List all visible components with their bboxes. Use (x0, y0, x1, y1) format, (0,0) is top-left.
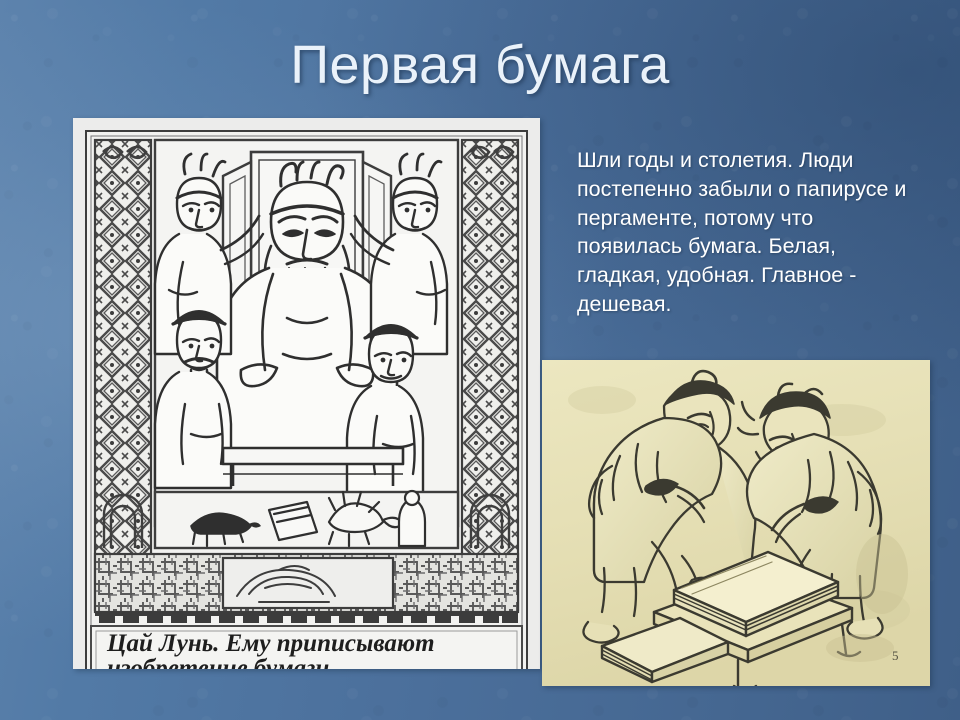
body-text-line: Шли годы и столетия. Люди (577, 146, 929, 175)
woodcut-illustration: Старинная китайская гравюра: Цай Лунь в … (73, 118, 540, 669)
papermakers-artwork: 5 (542, 360, 930, 686)
woodcut-caption-line-1: Цай Лунь. Ему приписывают (106, 630, 435, 657)
slide: Первая бумага Старинная китайская гравюр… (0, 0, 960, 720)
body-text-block: Шли годы и столетия. Люди постепенно заб… (577, 146, 929, 319)
woodcut-caption-line-2: изобретение бумаги (107, 655, 329, 669)
page-title: Первая бумага (0, 34, 960, 96)
body-text-line: пергаменте, потому что (577, 204, 929, 233)
body-text-line: дешевая. (577, 290, 929, 319)
plate-number-mark: 5 (892, 648, 899, 663)
body-text-line: появилась бумага. Белая, (577, 232, 929, 261)
papermakers-illustration: Рисунок тушью: двое мастеров над стопкой… (542, 360, 930, 686)
body-text-line: гладкая, удобная. Главное - (577, 261, 929, 290)
body-text-line: постепенно забыли о папирусе и (577, 175, 929, 204)
woodcut-artwork: Цай Лунь. Ему приписывают изобретение бу… (73, 118, 540, 669)
